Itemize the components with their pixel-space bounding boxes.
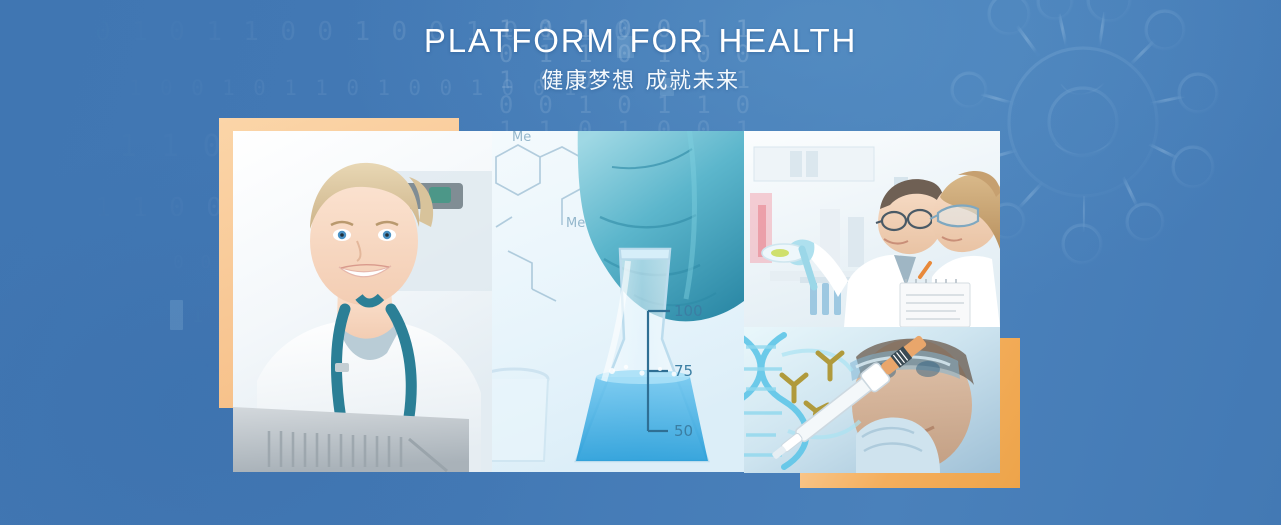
photo-flask: Me Me O O OH [492,131,744,472]
photo-pipette [744,327,1000,473]
flask-scale-100: 100 [674,302,703,320]
binary-row: 0 0 1 0 1 1 0 1 [499,91,750,119]
binary-row: 1 0 0 1 1 0 1 0 [499,66,750,94]
svg-text:Me: Me [512,131,531,145]
photo-team [744,131,1000,327]
photo-doctor [233,131,492,472]
bit-highlight-block [660,78,674,96]
svg-text:Me: Me [566,216,585,231]
health-platform-banner: 0 1 0 1 1 0 0 1 0 0 1 0 1 1 0 1 0 0 1 0 … [0,0,1281,525]
flask-scale-75: 75 [674,362,693,380]
flask-scale-50: 50 [674,422,693,440]
bit-highlight-block [617,36,634,58]
bit-highlight-block [170,300,183,330]
